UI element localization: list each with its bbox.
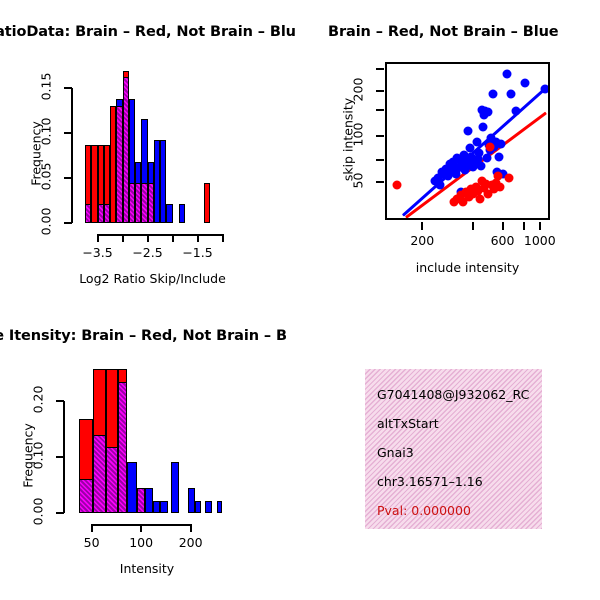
y-axis-tick [376,109,384,111]
x-axis-tick [421,222,423,230]
x-axis-tick-label: −2.5 [120,245,176,260]
y-axis-title: Frequency [21,406,36,506]
scatter-point-blue [540,84,549,93]
y-axis-tick [376,135,384,137]
hist-bar-red [204,183,210,223]
hist-bar-blue [205,501,211,513]
hist-bar-overlap [137,488,146,513]
x-axis-tick-label: 1000 [512,233,568,248]
intensity-histogram-plot-area: 0.000.100.20Frequency50100200Intensity [0,345,300,600]
hist-bar-overlap [93,435,106,513]
x-axis-tick [539,222,541,230]
x-axis-title: Intensity [32,561,262,576]
info-line: G7041408@J932062_RC [377,387,529,402]
hist-bar-blue [217,501,222,513]
x-axis-title: include intensity [345,260,590,275]
x-axis-tick [523,222,525,230]
scatter-point-blue [497,139,506,148]
x-axis-tick [147,234,149,242]
y-axis-tick [56,456,64,458]
x-axis-tick-label: 200 [163,535,219,550]
scatter-point-blue [479,123,488,132]
x-axis-title: Log2 Ratio Skip/Include [40,271,265,286]
hist-bar-blue [145,488,153,513]
x-axis-tick-label: 100 [113,535,169,550]
scatter-point-blue [507,90,516,99]
y-axis-tick [376,90,384,92]
hist-bar-blue [166,204,172,223]
x-axis-tick [190,524,192,532]
scatter-point-red [495,182,504,191]
x-axis-tick [472,222,474,230]
info-line: Gnai3 [377,445,414,460]
panel-intensity-histogram: ne Itensity: Brain – Red, Not Brain – B … [0,300,300,600]
scatter-point-blue [476,161,485,170]
hist-bar-blue [188,488,195,513]
x-axis-tick [222,234,224,242]
scatter-point-red [393,181,402,190]
hist-bar-overlap [118,382,127,513]
scatter-point-red [505,173,514,182]
x-axis-tick-label: −1.5 [170,245,226,260]
scatter-box [385,62,550,220]
y-axis-tick [64,87,72,89]
scatter-point-red [493,172,502,181]
x-axis-tick-label: 50 [64,535,120,550]
hist-bar-overlap [79,479,93,513]
hist-bar-blue [179,204,185,223]
y-axis-tick [376,68,384,70]
y-axis-tick [376,181,384,183]
hist-bar-blue [195,501,201,513]
x-axis-tick [97,234,99,242]
x-axis-tick [197,234,199,242]
y-axis-tick [64,222,72,224]
hist-bar-blue [127,462,137,513]
panel-info: G7041408@J932062_RCaltTxStartGnai3chr3.1… [300,300,600,600]
hist-bar-blue [153,501,160,513]
y-axis-tick [56,400,64,402]
scatter-point-blue [495,153,504,162]
hist-bar-overlap [106,447,118,513]
scatter-point-blue [488,90,497,99]
scatter-title: Brain – Red, Not Brain – Blue [328,24,559,40]
info-pvalue: Pval: 0.000000 [377,503,471,518]
scatter-point-blue [472,137,481,146]
x-axis-tick [122,234,124,242]
y-axis-tick [64,177,72,179]
y-axis-tick [376,159,384,161]
scatter-point-red [486,142,495,151]
y-axis-tick [64,132,72,134]
scatter-plot-area: 50100200skip intensity2006001000include … [300,40,600,300]
hist-bar-blue [171,462,179,513]
y-axis-title: Frequency [29,104,44,204]
scatter-point-blue [435,181,444,190]
scatter-point-blue [483,107,492,116]
panel-intensity-scatter: Brain – Red, Not Brain – Blue 50100200sk… [300,0,600,300]
x-axis-tick [172,234,174,242]
x-axis-tick [91,524,93,532]
x-axis-tick [140,524,142,532]
ratio-histogram-plot-area: 0.000.050.100.15Frequency−3.5−2.5−1.5Log… [0,40,300,300]
gene-info-box: G7041408@J932062_RCaltTxStartGnai3chr3.1… [365,369,542,529]
scatter-point-blue [502,69,511,78]
x-axis-tick-label: −3.5 [70,245,126,260]
panel-ratio-histogram: RatioData: Brain – Red, Not Brain – Blu … [0,0,300,300]
y-axis-title: skip intensity [341,85,356,195]
info-line: chr3.16571–1.16 [377,474,483,489]
scatter-point-blue [520,79,529,88]
x-axis-tick [502,222,504,230]
scatter-point-blue [463,126,472,135]
x-axis-tick-label: 200 [394,233,450,248]
scatter-point-blue [511,106,520,115]
x-axis-line [98,234,223,236]
intensity-histogram-title: ne Itensity: Brain – Red, Not Brain – B [0,328,287,344]
y-axis-line [71,88,73,223]
scatter-point-blue [482,154,491,163]
ratio-histogram-title: RatioData: Brain – Red, Not Brain – Blu [0,24,296,40]
y-axis-tick [56,512,64,514]
hist-bar-blue [160,501,168,513]
info-line: altTxStart [377,416,439,431]
